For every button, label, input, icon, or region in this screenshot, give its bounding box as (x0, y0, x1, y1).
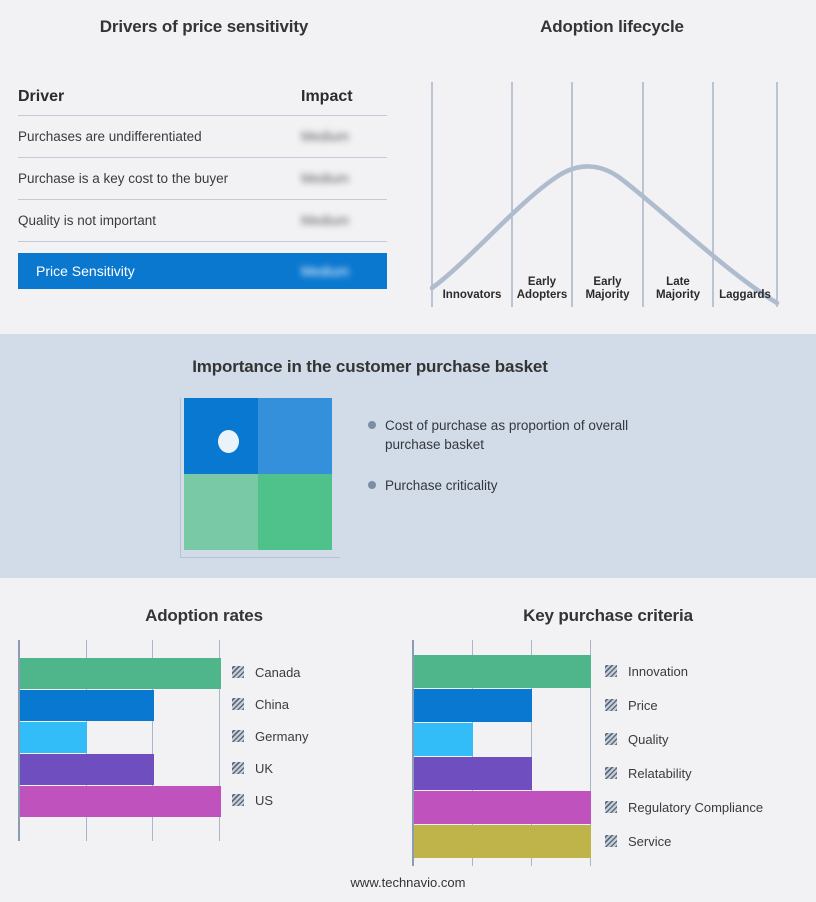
legend-label: Germany (255, 729, 308, 744)
adoption-lifecycle-chart: InnovatorsEarlyAdoptersEarlyMajorityLate… (408, 60, 816, 310)
lifecycle-segment-label: EarlyMajority (572, 276, 643, 302)
lifecycle-label-line-2: Innovators (432, 289, 512, 302)
legend-item: Germany (232, 720, 308, 752)
lifecycle-segment-label: EarlyAdopters (512, 276, 572, 302)
importance-section: Importance in the customer purchase bask… (0, 334, 816, 578)
quadrant-cell-top-right (258, 398, 332, 474)
key-criteria-chart (412, 640, 592, 866)
bar-quality (414, 723, 473, 756)
bullet-icon (368, 481, 376, 489)
drivers-panel: Drivers of price sensitivity Driver Impa… (0, 0, 408, 334)
lifecycle-dividers (432, 82, 777, 307)
importance-legend-item: Cost of purchase as proportion of overal… (368, 416, 668, 454)
key-criteria-title: Key purchase criteria (400, 606, 816, 626)
bar-regulatory-compliance (414, 791, 591, 824)
legend-label: Quality (628, 732, 668, 747)
legend-item: China (232, 688, 308, 720)
driver-name: Purchases are undifferentiated (18, 129, 301, 144)
adoption-lifecycle-panel: Adoption lifecycle InnovatorsEarlyAdopte… (408, 0, 816, 334)
adoption-lifecycle-title: Adoption lifecycle (408, 17, 816, 37)
legend-label: Canada (255, 665, 301, 680)
key-criteria-panel: Key purchase criteria InnovationPriceQua… (400, 578, 816, 902)
drivers-table: Driver Impact Purchases are undifferenti… (18, 88, 387, 289)
hatch-swatch-icon (605, 733, 617, 745)
legend-label: China (255, 697, 289, 712)
footer-url[interactable]: www.technavio.com (0, 875, 816, 890)
adoption-rates-panel: Adoption rates CanadaChinaGermanyUKUS (0, 578, 408, 902)
importance-legend: Cost of purchase as proportion of overal… (368, 416, 668, 517)
hatch-swatch-icon (232, 698, 244, 710)
quadrant-x-axis (180, 557, 340, 558)
drivers-row-group: Purchases are undifferentiatedMediumPurc… (18, 116, 387, 242)
lifecycle-label-line-2: Majority (643, 289, 713, 302)
bullet-icon (368, 421, 376, 429)
legend-item: Service (605, 824, 763, 858)
hatch-swatch-icon (232, 730, 244, 742)
legend-item: Price (605, 688, 763, 722)
hatch-swatch-icon (232, 666, 244, 678)
driver-name: Quality is not important (18, 213, 301, 228)
top-section: Drivers of price sensitivity Driver Impa… (0, 0, 816, 334)
legend-item: Canada (232, 656, 308, 688)
lifecycle-label-line-1: Early (512, 276, 572, 289)
legend-item: Relatability (605, 756, 763, 790)
legend-label: Regulatory Compliance (628, 800, 763, 815)
driver-row: Purchases are undifferentiatedMedium (18, 116, 387, 158)
hatch-swatch-icon (605, 801, 617, 813)
importance-legend-label: Purchase criticality (385, 476, 498, 495)
legend-label: Service (628, 834, 671, 849)
legend-item: US (232, 784, 308, 816)
driver-row: Purchase is a key cost to the buyerMediu… (18, 158, 387, 200)
drivers-table-header: Driver Impact (18, 88, 387, 116)
bar-china (20, 690, 154, 721)
importance-legend-item: Purchase criticality (368, 476, 668, 495)
driver-impact-value: Medium (301, 213, 387, 228)
summary-label: Price Sensitivity (36, 263, 301, 279)
quadrant-grid (184, 398, 332, 550)
column-header-impact: Impact (301, 88, 387, 106)
adoption-rates-chart (18, 640, 221, 841)
key-criteria-legend: InnovationPriceQualityRelatabilityRegula… (605, 654, 763, 858)
driver-impact-value: Medium (301, 171, 387, 186)
legend-label: Price (628, 698, 658, 713)
hatch-swatch-icon (232, 794, 244, 806)
legend-item: Regulatory Compliance (605, 790, 763, 824)
quadrant-position-marker (218, 430, 239, 453)
hatch-swatch-icon (605, 699, 617, 711)
bar-germany (20, 722, 87, 753)
drivers-panel-title: Drivers of price sensitivity (0, 17, 408, 37)
lifecycle-segment-label: Laggards (713, 289, 777, 302)
legend-label: Relatability (628, 766, 692, 781)
quadrant-cell-bottom-right (258, 474, 332, 550)
driver-row: Quality is not importantMedium (18, 200, 387, 242)
bar-canada (20, 658, 221, 689)
column-header-driver: Driver (18, 88, 301, 106)
lifecycle-label-line-2: Laggards (713, 289, 777, 302)
hatch-swatch-icon (232, 762, 244, 774)
price-sensitivity-summary-row[interactable]: Price Sensitivity Medium (18, 253, 387, 289)
hatch-swatch-icon (605, 665, 617, 677)
legend-item: Innovation (605, 654, 763, 688)
bar-service (414, 825, 591, 858)
importance-quadrant-chart (180, 398, 340, 558)
hatch-swatch-icon (605, 767, 617, 779)
bar-innovation (414, 655, 591, 688)
driver-impact-value: Medium (301, 129, 387, 144)
bottom-section: Adoption rates CanadaChinaGermanyUKUS Ke… (0, 578, 816, 902)
lifecycle-segment-label: LateMajority (643, 276, 713, 302)
bell-curve-svg (408, 60, 816, 310)
importance-legend-label: Cost of purchase as proportion of overal… (385, 416, 635, 454)
bar-price (414, 689, 532, 722)
hatch-swatch-icon (605, 835, 617, 847)
bar-uk (20, 754, 154, 785)
adoption-rates-title: Adoption rates (0, 606, 408, 626)
lifecycle-label-line-2: Majority (572, 289, 643, 302)
lifecycle-label-line-1: Late (643, 276, 713, 289)
summary-impact-value: Medium (301, 264, 387, 279)
legend-label: UK (255, 761, 273, 776)
lifecycle-label-line-1: Early (572, 276, 643, 289)
bar-relatability (414, 757, 532, 790)
legend-item: UK (232, 752, 308, 784)
legend-label: Innovation (628, 664, 688, 679)
bar-us (20, 786, 221, 817)
quadrant-cell-bottom-left (184, 474, 258, 550)
lifecycle-segment-label: Innovators (432, 289, 512, 302)
importance-panel-title: Importance in the customer purchase bask… (0, 357, 740, 377)
quadrant-y-axis (180, 398, 181, 558)
legend-item: Quality (605, 722, 763, 756)
driver-name: Purchase is a key cost to the buyer (18, 171, 301, 186)
lifecycle-label-line-2: Adopters (512, 289, 572, 302)
legend-label: US (255, 793, 273, 808)
adoption-rates-legend: CanadaChinaGermanyUKUS (232, 656, 308, 816)
